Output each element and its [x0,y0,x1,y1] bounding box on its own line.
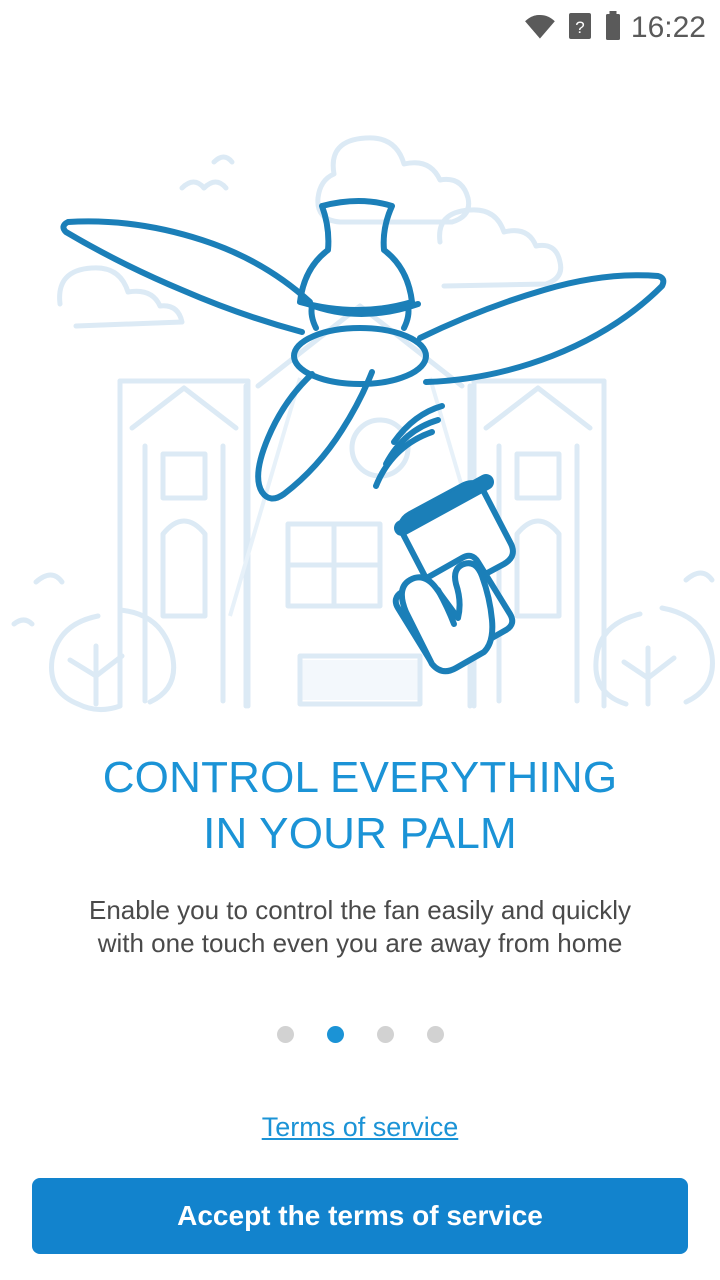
status-bar-clock: 16:22 [631,11,706,45]
terms-of-service-link[interactable]: Terms of service [0,1112,720,1143]
pager-dot-2[interactable] [327,1026,344,1043]
status-bar: ? 16:22 [0,0,720,56]
pager-dot-4[interactable] [427,1026,444,1043]
status-bar-icons: ? [523,10,623,47]
subtitle-line-1: Enable you to control the fan easily and… [46,894,674,927]
headline-line-2: IN YOUR PALM [0,806,720,862]
sim-question-icon: ? [567,11,593,46]
wifi-icon [523,13,557,44]
svg-text:?: ? [575,18,584,37]
pager-dots[interactable] [0,1026,720,1043]
page-subtitle: Enable you to control the fan easily and… [0,894,720,960]
pager-dot-1[interactable] [277,1026,294,1043]
battery-icon [603,10,623,47]
headline-line-1: CONTROL EVERYTHING [0,750,720,806]
subtitle-line-2: with one touch even you are away from ho… [46,927,674,960]
pager-dot-3[interactable] [377,1026,394,1043]
hero-illustration [0,56,720,716]
accept-terms-button[interactable]: Accept the terms of service [32,1178,688,1254]
ceiling-fan-remote-illustration [0,56,720,716]
page-title: CONTROL EVERYTHING IN YOUR PALM [0,750,720,862]
